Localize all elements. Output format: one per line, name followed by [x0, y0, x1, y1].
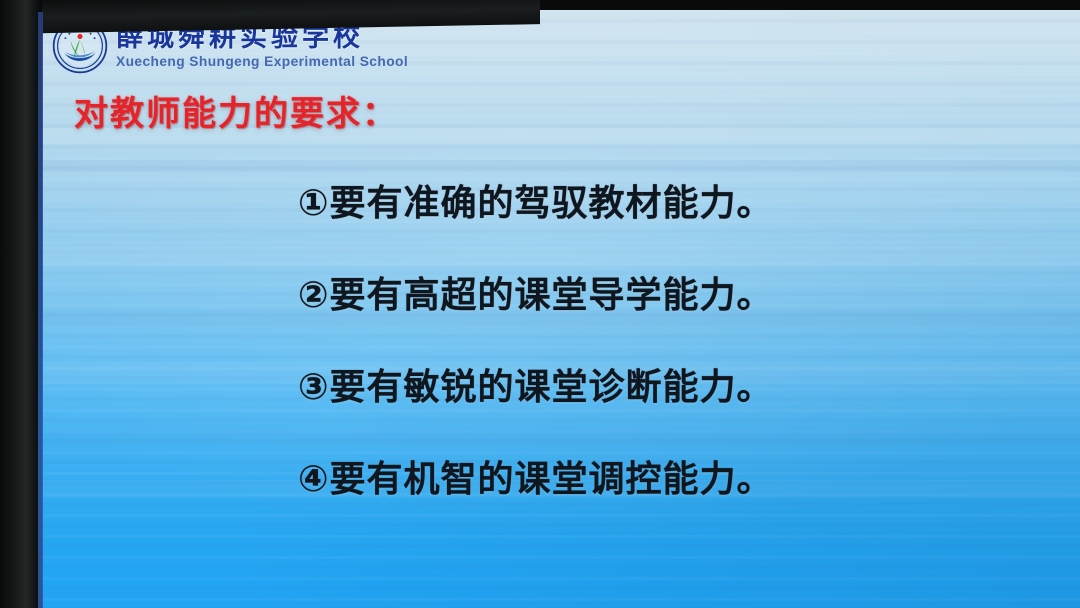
- list-item: ①要有准确的驾驭教材能力。: [298, 186, 1018, 222]
- slide-title: 对教师能力的要求：: [74, 86, 398, 135]
- list-item: ④要有机智的课堂调控能力。: [298, 462, 1018, 498]
- panel-band: [40, 160, 1080, 172]
- left-bezel: [0, 0, 42, 608]
- projector-screen-photo: 薛城舜耕实验学校 Xuecheng Shungeng Experimental …: [0, 0, 1080, 608]
- list-item: ②要有高超的课堂导学能力。: [298, 278, 1018, 314]
- screen-left-seam: [38, 12, 43, 608]
- school-name-en: Xuecheng Shungeng Experimental School: [116, 55, 408, 69]
- requirements-list: ①要有准确的驾驭教材能力。 ②要有高超的课堂导学能力。 ③要有敏锐的课堂诊断能力…: [298, 186, 1018, 498]
- list-item: ③要有敏锐的课堂诊断能力。: [298, 370, 1018, 406]
- presentation-slide: 薛城舜耕实验学校 Xuecheng Shungeng Experimental …: [40, 10, 1080, 608]
